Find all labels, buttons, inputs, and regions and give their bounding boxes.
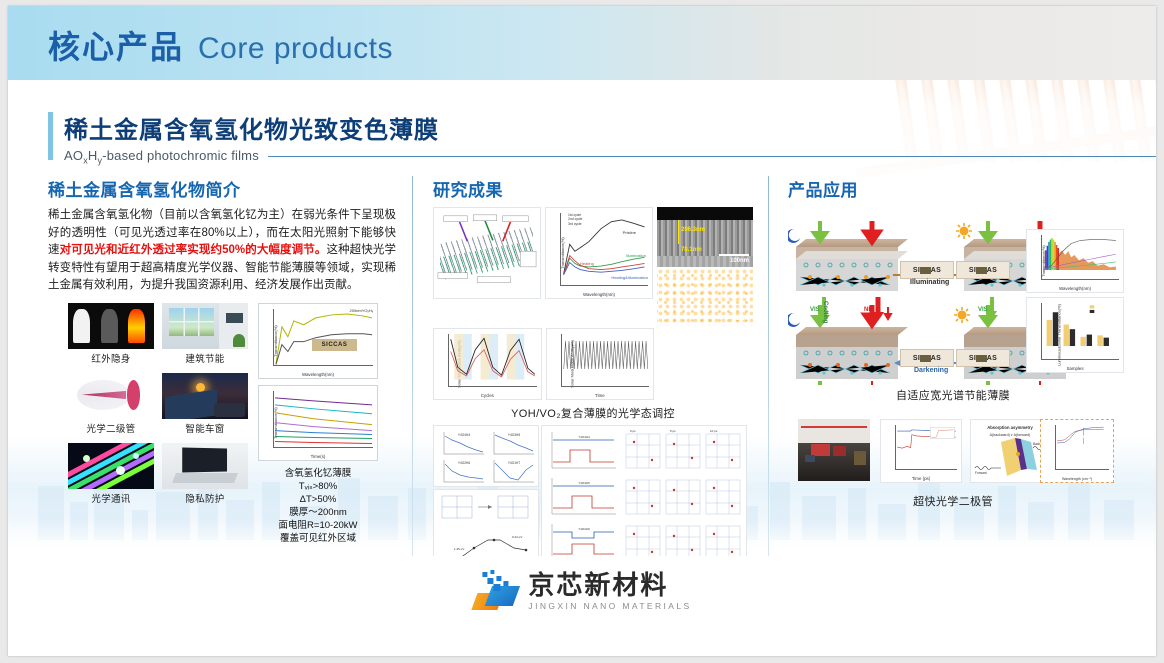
label-vis: VIS: [978, 307, 988, 313]
spec-item: 面电阻R=10-20kW: [258, 519, 378, 532]
svg-text:Y4O1H7: Y4O1H7: [508, 461, 520, 465]
logo-text-en: JINGXIN NANO MATERIALS: [528, 601, 691, 611]
chart-ylabel: Luminous&Solar Transmittance(%): [1056, 304, 1061, 366]
svg-text:Y4O3H5: Y4O3H5: [508, 433, 520, 437]
ultrafast-optical-diode-row: Time (ps) Absorption asymmetry A(backwar…: [788, 415, 1118, 489]
annotation-heating: Heating: [580, 261, 594, 266]
repeated-switching-chart: Solar Modulation Ability(%) Time: [546, 328, 655, 400]
svg-text:Absorption asymmetry: Absorption asymmetry: [987, 425, 1033, 430]
section-title: 稀土金属含氧氢化物光致变色薄膜 AOxHy-based photochromic…: [48, 110, 1156, 166]
applications-heading: 产品应用: [788, 176, 1118, 201]
research-caption-1: YOH/VO₂复合薄膜的光学态调控: [433, 405, 753, 421]
diode-absorption-chart: Wavelength (cm⁻¹): [1040, 419, 1114, 483]
spec-item: ΔT>50%: [258, 493, 378, 506]
svg-text:Y4O3H5: Y4O3H5: [578, 481, 590, 485]
chart-xlabel: Wavelength(nm): [259, 372, 377, 377]
svg-text:5 ps: 5 ps: [670, 429, 676, 433]
spec-item: 膜厚～200nm: [258, 506, 378, 519]
svg-text:Y4O4H4: Y4O4H4: [458, 433, 470, 437]
diode-response-chart: Time (ps): [880, 419, 962, 483]
left-transmittance-spectrum-chart: Transmittance(%) 200nmYOₓHᵧ SICCAS Wavel…: [258, 303, 378, 379]
applications-caption-1: 自适应宽光谱节能薄膜: [788, 387, 1118, 403]
gallery-label: 智能车窗: [162, 419, 248, 441]
column-research: 研究成果: [433, 176, 753, 592]
svg-text:1.25 eV: 1.25 eV: [454, 547, 464, 551]
svg-text:A(backward) ≠ A(forward): A(backward) ≠ A(forward): [990, 433, 1031, 437]
research-heading: 研究成果: [433, 176, 753, 201]
cross-section-sem-image: 206.3nm 78.1nm 100nm: [657, 207, 753, 267]
absorption-asymmetry-schematic: Absorption asymmetry A(backward) ≠ A(for…: [970, 419, 1050, 483]
chart-annotation: 200nmYOₓHᵧ: [350, 308, 374, 313]
siccas-watermark: SICCAS: [312, 339, 357, 351]
intro-heading: 稀土金属含氧氢化物简介: [48, 176, 396, 201]
label-vis: VIS: [810, 307, 820, 313]
optical-fiber-photo: [68, 443, 154, 489]
gallery-item[interactable]: 隐私防护: [162, 443, 248, 511]
chart-xlabel: Time(s): [259, 454, 377, 459]
optical-diode-diagram: [68, 373, 154, 419]
gallery-label: 红外隐身: [68, 349, 154, 371]
page-banner: 核心产品 Core products: [8, 6, 1156, 80]
svg-text:Y4O2H6: Y4O2H6: [578, 527, 590, 531]
column-divider-2: [768, 176, 769, 568]
spec-item: Tᵥᵢₛ>80%: [258, 480, 378, 493]
section-title-en: AOxHy-based photochromic films: [64, 148, 259, 166]
gallery-item[interactable]: 红外隐身: [68, 303, 154, 371]
left-thickness-transmittance-chart: Transmittance(%): [258, 385, 378, 461]
gallery-item[interactable]: 建筑节能: [162, 303, 248, 371]
label-nir: NIR: [864, 307, 874, 313]
spec-list: 含氧氢化钇薄膜 Tᵥᵢₛ>80% ΔT>50% 膜厚～200nm 面电阻R=10…: [258, 467, 378, 545]
gallery-item[interactable]: 光学二级管: [68, 373, 154, 441]
smart-car-window-photo: [162, 373, 248, 419]
luminous-transmittance-bar-chart: Samples Luminous&Solar Transmittance(%): [1026, 297, 1124, 373]
title-rule: [268, 156, 1156, 157]
intro-text-highlight: 对可见光和近红外透过率实现约50%的大幅度调节。: [60, 244, 327, 256]
svg-text:Y4O2H6: Y4O2H6: [458, 461, 470, 465]
column-intro: 稀土金属含氧氢化物简介 稀土金属含氧氢化物（目前以含氧氢化钇为主）在弱光条件下呈…: [48, 176, 396, 303]
chart-xlabel: Time: [547, 393, 654, 398]
jingxin-logo-icon: [472, 570, 518, 612]
svg-text:0 ps: 0 ps: [630, 429, 636, 433]
chart-xlabel: Wavelength(nm): [1027, 286, 1123, 291]
siccas-badge: SICCAS: [956, 349, 1010, 367]
building-energy-photo: [162, 303, 248, 349]
sem-thickness-top: 206.3nm: [681, 227, 705, 233]
md-trajectory-charts: 0 ps5 ps10 ps Y4O4H4 Y4O3H5 Y4O2H6 Time …: [541, 425, 747, 569]
chart-xlabel: Wavelength(nm): [546, 292, 652, 297]
label-cooling: Cooling: [822, 301, 828, 323]
chart-xlabel: Samples: [1027, 366, 1123, 371]
logo-text-cn: 京芯新材料: [528, 572, 691, 598]
privacy-laptop-photo: [162, 443, 248, 489]
legend-entry: 3rd cycle: [568, 222, 582, 226]
company-logo: 京芯新材料 JINGXIN NANO MATERIALS: [472, 570, 691, 612]
spec-item: 覆盖可见红外区域: [258, 532, 378, 545]
slide: 核心产品 Core products 稀土金属含氧氢化物光致变色薄膜 AOxHy…: [8, 6, 1156, 656]
research-block-1: Transmittance(%) 1st cycle: [433, 207, 753, 421]
annotation-illumination: Illumination: [626, 253, 646, 258]
svg-text:0.24 eV: 0.24 eV: [512, 535, 522, 539]
cycling-modulation-chart: Solar Modulation Ability(%): [433, 328, 542, 400]
adaptive-spectrum-film-cycle-diagram: SICCAS SICCAS SICCAS SICCAS Illuminating…: [788, 215, 1118, 385]
banner-title-en: Core products: [198, 32, 393, 66]
annotation-heating-illumination: Heating&Illumination: [611, 275, 648, 280]
yoh-vo2-layered-structure-schematic: [433, 207, 541, 299]
sem-scalebar-label: 100nm: [730, 258, 749, 264]
gallery-item[interactable]: 光学通讯: [68, 443, 154, 511]
column-applications: 产品应用: [788, 176, 1118, 509]
label-darkening: Darkening: [914, 367, 948, 374]
siccas-badge: SICCAS: [900, 261, 954, 279]
column-divider-1: [412, 176, 413, 568]
spec-panel: Transmittance(%) 200nmYOₓHᵧ SICCAS Wavel…: [258, 303, 378, 545]
footer: 京芯新材料 JINGXIN NANO MATERIALS: [8, 556, 1156, 656]
siccas-badge: SICCAS: [956, 261, 1010, 279]
gallery-label: 光学通讯: [68, 489, 154, 511]
annotation-pristine: Pristine: [623, 230, 636, 235]
section-title-cn: 稀土金属含氧氢化物光致变色薄膜: [64, 110, 1156, 145]
chart-xlabel: Time (ps): [881, 476, 961, 481]
spectral-transmittance-chart: Wavelength(nm) Transmittance(%): [1026, 229, 1124, 293]
energy-gap-vs-time-charts: Y4O4H4 Y4O3H5 Y4O2H6 Y4O1H7: [433, 425, 539, 487]
svg-text:Forward: Forward: [975, 471, 987, 475]
optical-bench-photo: [798, 419, 870, 481]
gallery-item[interactable]: 智能车窗: [162, 373, 248, 441]
infrared-stealth-photo: [68, 303, 154, 349]
svg-text:10 ps: 10 ps: [710, 429, 718, 433]
applications-caption-2: 超快光学二极管: [788, 493, 1118, 509]
afm-surface-topography-image: 1μm: [657, 268, 753, 326]
gallery-label: 隐私防护: [162, 489, 248, 511]
chart-ylabel: Transmittance(%): [1041, 245, 1046, 276]
spec-title: 含氧氢化钇薄膜: [258, 467, 378, 480]
banner-title-cn: 核心产品: [48, 22, 184, 68]
afm-scalebar-label: 1μm: [736, 316, 748, 322]
svg-text:Y4O4H4: Y4O4H4: [578, 435, 590, 439]
gallery-label: 建筑节能: [162, 349, 248, 371]
gallery-label: 光学二级管: [68, 419, 154, 441]
content-columns: 稀土金属含氧氢化物简介 稀土金属含氧氢化物（目前以含氧氢化钇为主）在弱光条件下呈…: [48, 176, 1118, 576]
chart-xlabel: Cycles: [434, 393, 541, 398]
chart-xlabel: Wavelength (cm⁻¹): [1041, 477, 1113, 481]
intro-paragraph: 稀土金属含氧氢化物（目前以含氧氢化钇为主）在弱光条件下呈现极好的透明性（可见光透…: [48, 207, 396, 295]
siccas-badge: SICCAS: [900, 349, 954, 367]
transmittance-spectra-chart: Transmittance(%) 1st cycle: [545, 207, 653, 299]
sem-thickness-bottom: 78.1nm: [681, 247, 702, 253]
label-illuminating: Illuminating: [910, 279, 949, 286]
accent-bar: [48, 112, 53, 160]
